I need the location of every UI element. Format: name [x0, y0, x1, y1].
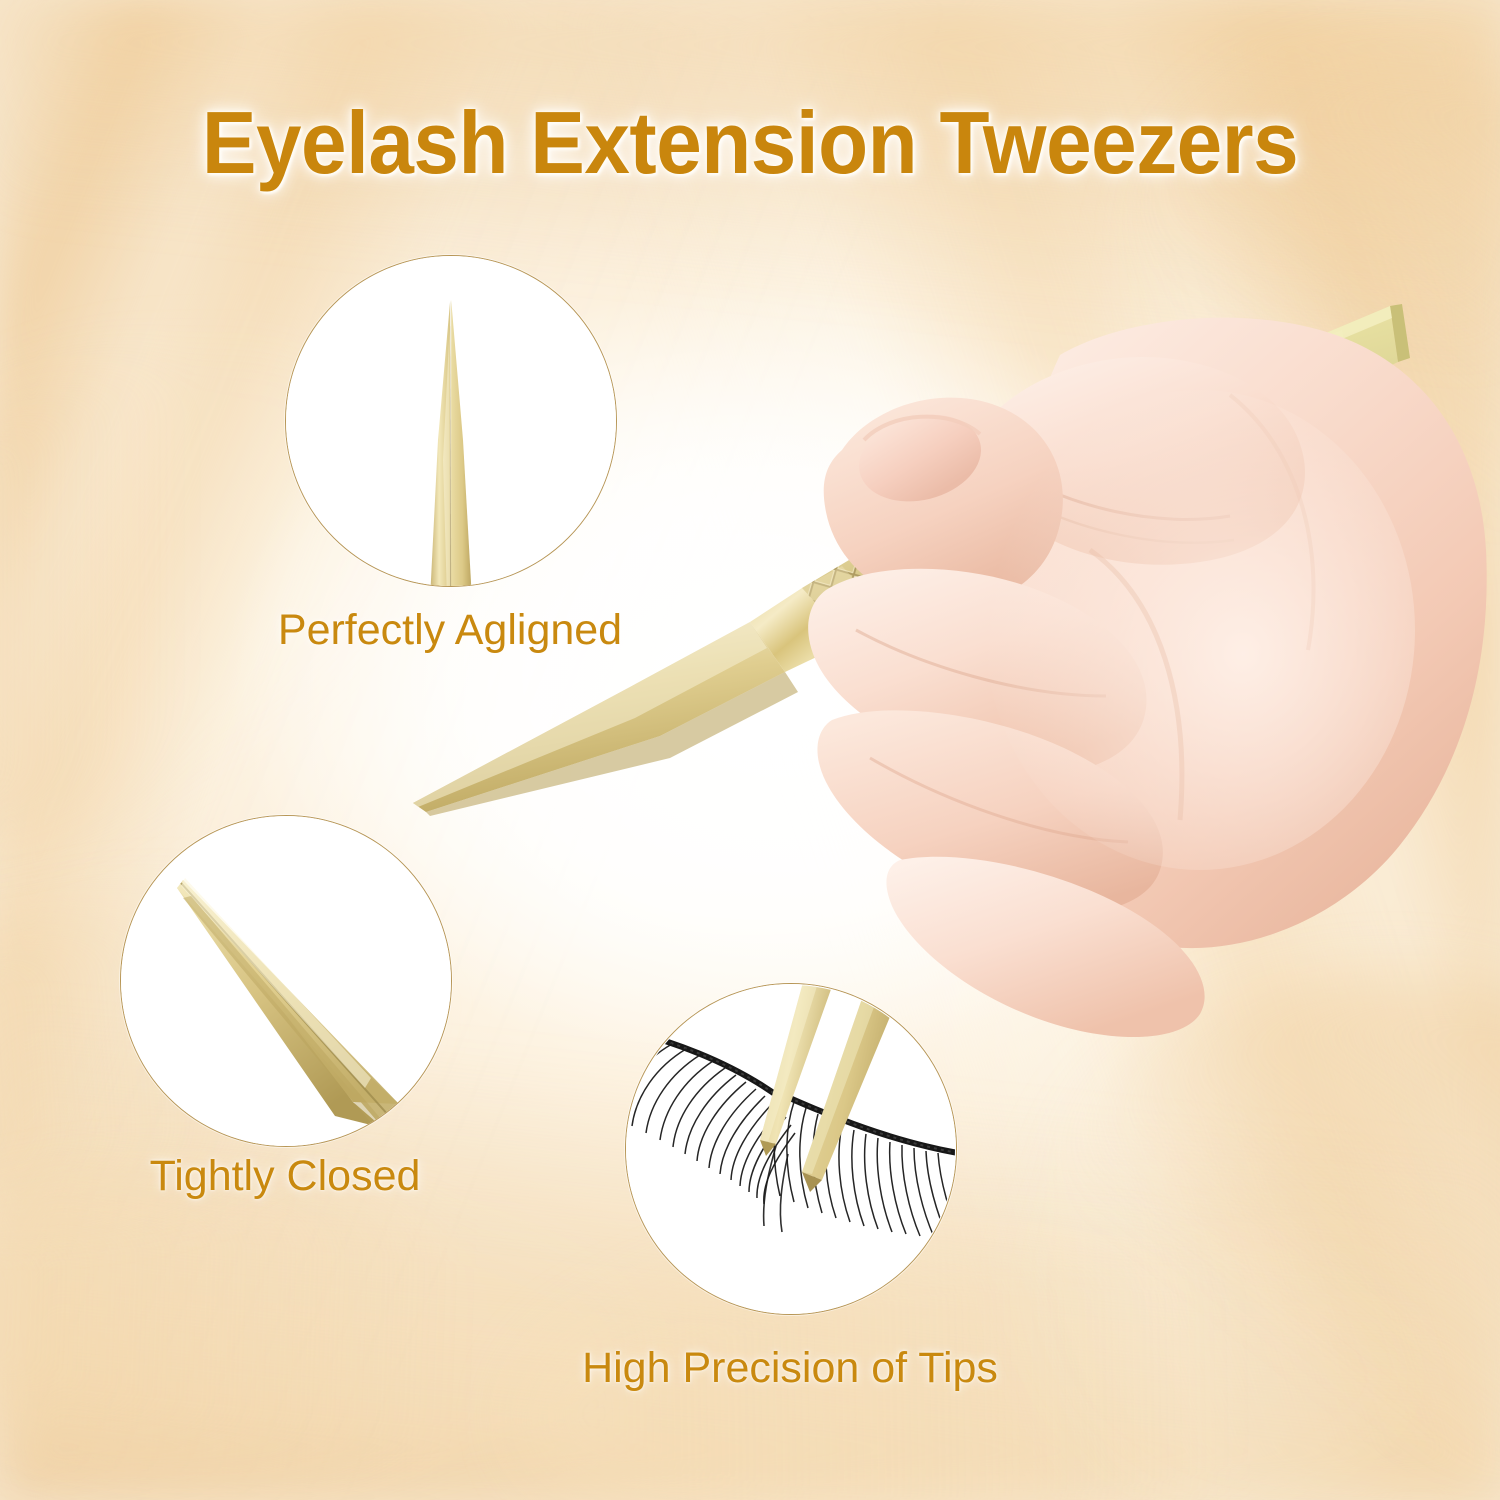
page-title: Eyelash Extension Tweezers	[53, 92, 1448, 194]
callout-perfectly-aligned	[285, 255, 617, 587]
callout-caption-high-precision: High Precision of Tips	[490, 1344, 1090, 1393]
callout-caption-perfectly-aligned: Perfectly Agligned	[180, 606, 720, 655]
product-image-canvas: Eyelash Extension Tweezers	[0, 0, 1500, 1500]
callout-high-precision	[625, 983, 957, 1315]
callout-tightly-closed	[120, 815, 452, 1147]
callout-caption-tightly-closed: Tightly Closed	[20, 1152, 550, 1201]
hand-holding-tweezers	[760, 300, 1500, 1040]
tweezer-tip-vertical-icon	[421, 300, 481, 586]
tweezer-tip-diagonal-icon	[121, 816, 451, 1146]
tweezer-picking-lashes-icon	[626, 984, 956, 1314]
